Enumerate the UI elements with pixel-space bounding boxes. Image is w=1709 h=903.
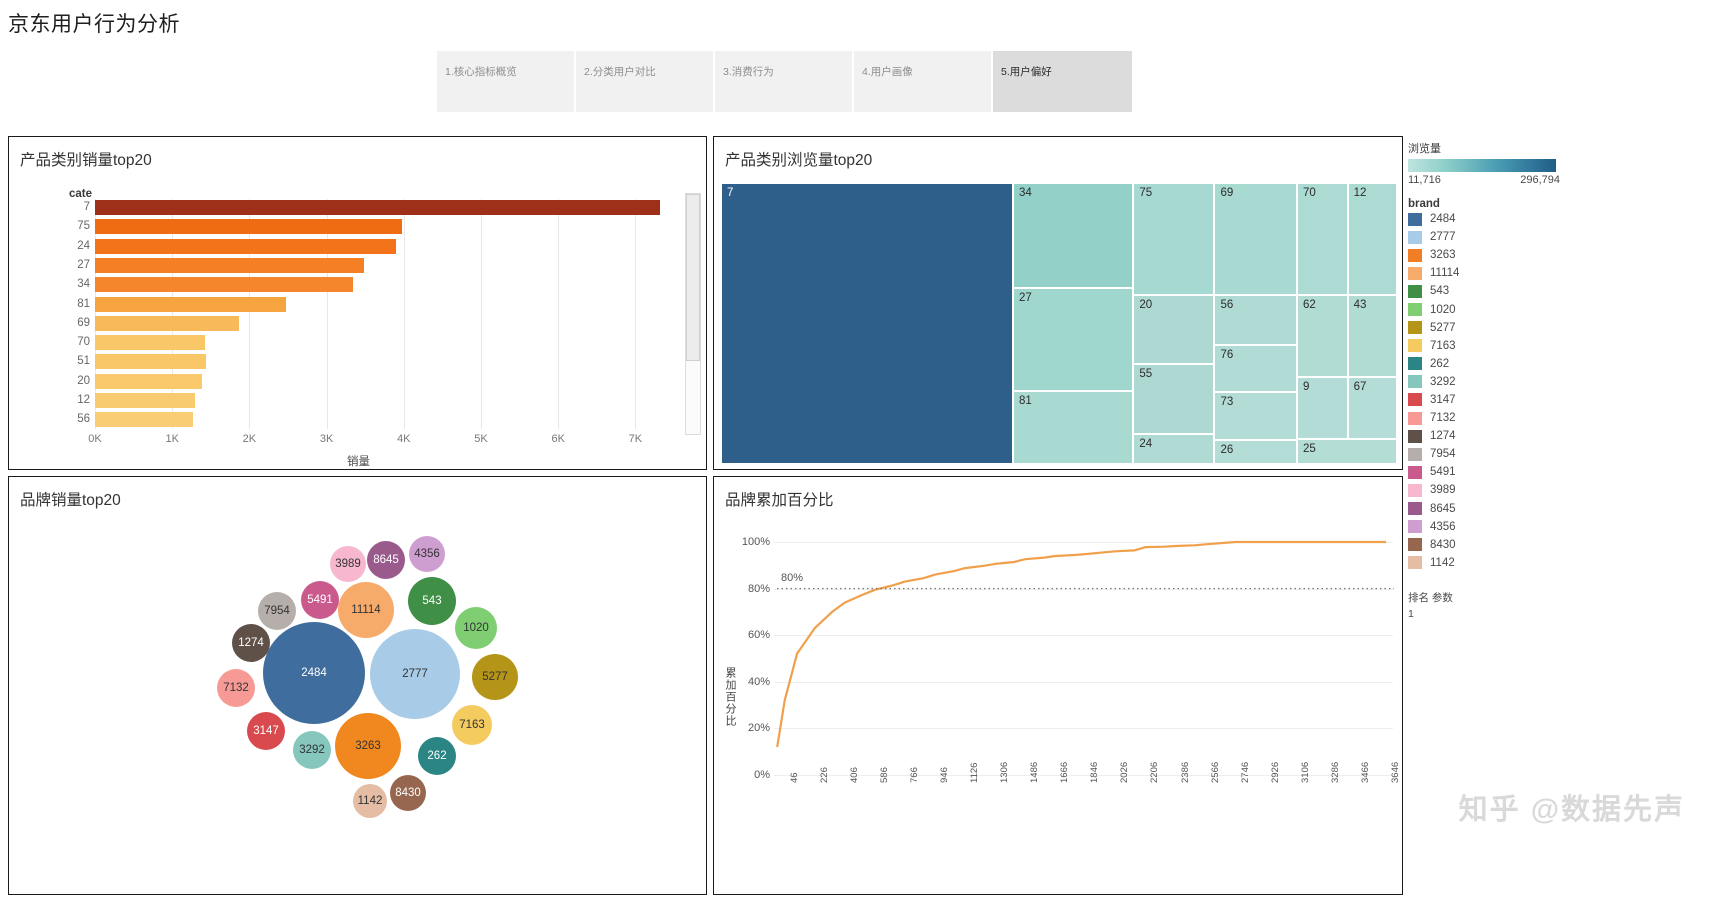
bar-row[interactable]: 20 [95,373,674,390]
legend-item[interactable]: 5491 [1408,463,1608,481]
panel-bubble-title: 品牌销量top20 [20,488,121,510]
legend-item-label: 8430 [1430,539,1456,551]
legend-item-label: 2484 [1430,213,1456,225]
legend-item-label: 2777 [1430,231,1456,243]
legend-item[interactable]: 3292 [1408,373,1608,391]
treemap-cell-label: 26 [1220,444,1233,456]
legend-item[interactable]: 8430 [1408,536,1608,554]
legend-item[interactable]: 2777 [1408,228,1608,246]
bar-category-label: 12 [50,392,90,409]
treemap-cell-label: 9 [1303,381,1309,393]
bar-row[interactable]: 75 [95,218,674,235]
legend-swatch-icon [1408,231,1422,244]
bubble[interactable]: 3989 [330,546,366,582]
legend-swatch-icon [1408,412,1422,425]
bar-row[interactable]: 12 [95,392,674,409]
treemap-cell-label: 76 [1220,349,1233,361]
tab-3-label: 3.消费行为 [723,66,774,78]
legend-swatch-icon [1408,249,1422,262]
bar-row[interactable]: 81 [95,296,674,313]
bar-x-tick: 3K [320,433,333,445]
legend-item[interactable]: 1020 [1408,300,1608,318]
bubble[interactable]: 2484 [263,622,365,724]
bubble[interactable]: 7132 [217,669,255,707]
treemap-cell-label: 7 [727,187,733,199]
bubble-chart: 2484277732631111454310205277716326232923… [9,513,708,896]
treemap-cell-label: 55 [1139,368,1152,380]
legend-item[interactable]: 7132 [1408,409,1608,427]
gradient-max: 296,794 [1520,174,1560,186]
bubble[interactable]: 7954 [258,592,296,630]
treemap-cell-label: 73 [1220,396,1233,408]
legend-item-label: 5277 [1430,322,1456,334]
tab-bar: 1.核心指标概览 2.分类用户对比 3.消费行为 4.用户画像 5.用户偏好 [437,51,1132,112]
bubble[interactable]: 8645 [367,541,405,579]
legend-item-label: 7163 [1430,340,1456,352]
bar-rect[interactable] [95,219,402,234]
legend-swatch-icon [1408,556,1422,569]
gradient-min: 11,716 [1408,174,1441,186]
bubble[interactable]: 1020 [455,607,497,649]
treemap-cell[interactable]: 7 [721,183,1013,464]
bar-row[interactable]: 56 [95,411,674,428]
treemap-cell[interactable]: 76 [1214,345,1296,393]
treemap-cell-label: 12 [1354,187,1367,199]
bar-scrollbar-thumb[interactable] [686,194,700,361]
legend-item[interactable]: 262 [1408,355,1608,373]
bubble[interactable]: 3263 [335,713,401,779]
legend-swatch-icon [1408,321,1422,334]
bar-x-tick: 7K [629,433,642,445]
pareto-chart: 累加百分比 0%20%40%60%80%100% 462264065867669… [714,517,1404,896]
bar-x-tick: 0K [88,433,101,445]
bar-scrollbar-track[interactable] [685,193,701,435]
legend-item-label: 7954 [1430,448,1456,460]
treemap-cell[interactable]: 55 [1133,364,1214,434]
legend-swatch-icon [1408,484,1422,497]
treemap-cell[interactable]: 25 [1297,439,1397,464]
treemap-cell-label: 24 [1139,438,1152,450]
legend-item-label: 3147 [1430,394,1456,406]
bar-rect[interactable] [95,354,206,369]
bar-category-label: 81 [50,296,90,313]
legend-item-label: 8645 [1430,503,1456,515]
bar-row[interactable]: 51 [95,353,674,370]
bar-category-label: 24 [50,238,90,255]
legend-item-label: 7132 [1430,412,1456,424]
legend-item[interactable]: 1274 [1408,427,1608,445]
legend-item[interactable]: 7163 [1408,337,1608,355]
treemap-cell-label: 56 [1220,299,1233,311]
treemap-cell-label: 81 [1019,395,1032,407]
bubble[interactable]: 5277 [472,654,518,700]
panel-brand-sales-bubble: 品牌销量top20 248427773263111145431020527771… [8,476,707,895]
bar-category-label: 56 [50,411,90,428]
legend-swatch-icon [1408,448,1422,461]
treemap-cell[interactable]: 67 [1348,377,1397,439]
bar-rect[interactable] [95,316,239,331]
bar-row[interactable]: 27 [95,257,674,274]
legend-item[interactable]: 3263 [1408,246,1608,264]
treemap-cell[interactable]: 9 [1297,377,1348,439]
legend-item[interactable]: 3147 [1408,391,1608,409]
legend-item-label: 3263 [1430,249,1456,261]
treemap-cell[interactable]: 73 [1214,392,1296,440]
bubble[interactable]: 8430 [390,775,426,811]
bar-rect[interactable] [95,297,286,312]
pareto-line [777,542,1386,747]
bar-row[interactable]: 7 [95,199,674,216]
legend-swatch-icon [1408,520,1422,533]
tab-4[interactable]: 4.用户画像 [854,51,993,112]
bar-row[interactable]: 69 [95,315,674,332]
bar-rect[interactable] [95,239,396,254]
bar-row[interactable]: 34 [95,276,674,293]
bubble[interactable]: 543 [408,577,456,625]
legend-item[interactable]: 543 [1408,282,1608,300]
bar-category-label: 75 [50,218,90,235]
bar-x-tick: 5K [474,433,487,445]
legend-item-label: 4356 [1430,521,1456,533]
gradient-legend-bar [1408,159,1556,172]
treemap-cell[interactable]: 12 [1348,183,1397,295]
legend-item[interactable]: 1142 [1408,554,1608,572]
treemap-cell[interactable]: 69 [1214,183,1296,295]
rank-parameter-caption: 排名 参数 [1408,590,1608,605]
gradient-legend-scale: 11,716 296,794 [1408,174,1560,186]
bar-rect[interactable] [95,374,202,389]
bar-row[interactable]: 70 [95,334,674,351]
treemap-cell[interactable]: 24 [1133,434,1214,464]
panel-category-sales-bar: 产品类别销量top20 cate 77524273481697051201256… [8,136,707,470]
legend-swatch-icon [1408,357,1422,370]
bar-x-tick: 4K [397,433,410,445]
dashboard-root: 京东用户行为分析 1.核心指标概览 2.分类用户对比 3.消费行为 4.用户画像… [0,0,1709,903]
legend-item-label: 262 [1430,358,1449,370]
gradient-legend-caption: 浏览量 [1408,140,1608,156]
bar-category-label: 69 [50,315,90,332]
treemap-cell-label: 20 [1139,299,1152,311]
panel-brand-cumulative-line: 品牌累加百分比 累加百分比 0%20%40%60%80%100% 4622640… [713,476,1403,895]
bar-x-tick: 6K [551,433,564,445]
treemap-cell-label: 27 [1019,292,1032,304]
bubble[interactable]: 7163 [452,705,492,745]
legend-item-label: 5491 [1430,466,1456,478]
legend-item-label: 1142 [1430,557,1455,569]
legend-swatch-icon [1408,375,1422,388]
bar-rect[interactable] [95,412,193,427]
bar-category-label: 20 [50,373,90,390]
brand-legend-list: 2484277732631111454310205277716326232923… [1408,210,1608,572]
legend-item-label: 3989 [1430,484,1456,496]
bubble[interactable]: 4356 [409,536,445,572]
treemap-cell[interactable]: 26 [1214,440,1296,464]
bubble[interactable]: 262 [418,737,456,775]
legend-item-label: 543 [1430,285,1449,297]
bar-rect[interactable] [95,277,353,292]
legend-swatch-icon [1408,267,1422,280]
legend-rail: 浏览量 11,716 296,794 brand 248427773263111… [1408,140,1608,620]
legend-item[interactable]: 2484 [1408,210,1608,228]
bar-rect[interactable] [95,335,205,350]
page-title: 京东用户行为分析 [8,8,180,38]
tab-2-label: 2.分类用户对比 [584,66,656,78]
legend-swatch-icon [1408,339,1422,352]
bubble[interactable]: 3292 [293,731,331,769]
legend-swatch-icon [1408,213,1422,226]
bar-rect[interactable] [95,200,660,215]
bar-x-tick: 2K [243,433,256,445]
legend-swatch-icon [1408,538,1422,551]
legend-item[interactable]: 5277 [1408,319,1608,337]
bar-category-label: 34 [50,276,90,293]
bubble[interactable]: 5491 [301,581,339,619]
treemap-cell-label: 70 [1303,187,1316,199]
bubble[interactable]: 2777 [370,629,460,719]
bubble[interactable]: 1274 [232,624,270,662]
bar-x-tick: 1K [165,433,178,445]
bubble[interactable]: 3147 [247,712,285,750]
legend-item-label: 1020 [1430,304,1456,316]
bar-category-label: 27 [50,257,90,274]
treemap-cell[interactable]: 27 [1013,288,1133,391]
bar-category-label: 70 [50,334,90,351]
bar-row[interactable]: 24 [95,238,674,255]
legend-swatch-icon [1408,285,1422,298]
treemap-cell[interactable]: 20 [1133,295,1214,364]
treemap-cell[interactable]: 56 [1214,295,1296,344]
legend-item[interactable]: 3989 [1408,481,1608,499]
legend-swatch-icon [1408,502,1422,515]
legend-swatch-icon [1408,303,1422,316]
legend-item-label: 1274 [1430,430,1456,442]
bar-rect[interactable] [95,393,195,408]
treemap-cell[interactable]: 34 [1013,183,1133,288]
tab-4-label: 4.用户画像 [862,66,913,78]
bar-category-label: 51 [50,353,90,370]
legend-item-label: 3292 [1430,376,1456,388]
legend-swatch-icon [1408,393,1422,406]
line-plot-svg [714,517,1404,896]
legend-swatch-icon [1408,466,1422,479]
bar-x-axis-title: 销量 [9,453,708,469]
legend-item[interactable]: 7954 [1408,445,1608,463]
legend-swatch-icon [1408,430,1422,443]
bar-category-label: 7 [50,199,90,216]
treemap-cell-label: 62 [1303,299,1316,311]
legend-item[interactable]: 11114 [1408,264,1608,282]
bubble[interactable]: 11114 [338,582,394,638]
tab-5[interactable]: 5.用户偏好 [993,51,1132,112]
tab-3[interactable]: 3.消费行为 [715,51,854,112]
watermark: 知乎 @数据先声 [1459,786,1685,828]
legend-item[interactable]: 4356 [1408,518,1608,536]
treemap-cell-label: 75 [1139,187,1152,199]
bar-chart: cate 77524273481697051201256 0K1K2K3K4K5… [9,137,708,471]
brand-legend-caption: brand [1408,198,1608,210]
treemap-cell[interactable]: 43 [1348,295,1397,376]
rank-parameter-value: 1 [1408,608,1608,620]
tab-1-label: 1.核心指标概览 [445,66,517,78]
treemap-cell[interactable]: 62 [1297,295,1348,376]
treemap-cell-label: 69 [1220,187,1233,199]
bubble[interactable]: 1142 [353,784,387,818]
treemap-chart: 73427817520552469567673267062925124367 [721,183,1397,464]
tab-2[interactable]: 2.分类用户对比 [576,51,715,112]
treemap-cell[interactable]: 75 [1133,183,1214,295]
treemap-cell-label: 25 [1303,443,1316,455]
treemap-cell-label: 34 [1019,187,1032,199]
panel-category-views-treemap: 产品类别浏览量top20 734278175205524695676732670… [713,136,1403,470]
treemap-cell-label: 67 [1354,381,1367,393]
panel-tree-title: 产品类别浏览量top20 [725,148,872,170]
tab-5-label: 5.用户偏好 [1001,66,1052,78]
treemap-cell[interactable]: 81 [1013,391,1133,464]
legend-item-label: 11114 [1430,267,1459,279]
bar-rect[interactable] [95,258,364,273]
tab-1[interactable]: 1.核心指标概览 [437,51,576,112]
legend-item[interactable]: 8645 [1408,500,1608,518]
treemap-cell-label: 43 [1354,299,1367,311]
treemap-cell[interactable]: 70 [1297,183,1348,295]
panel-line-title: 品牌累加百分比 [725,488,834,510]
